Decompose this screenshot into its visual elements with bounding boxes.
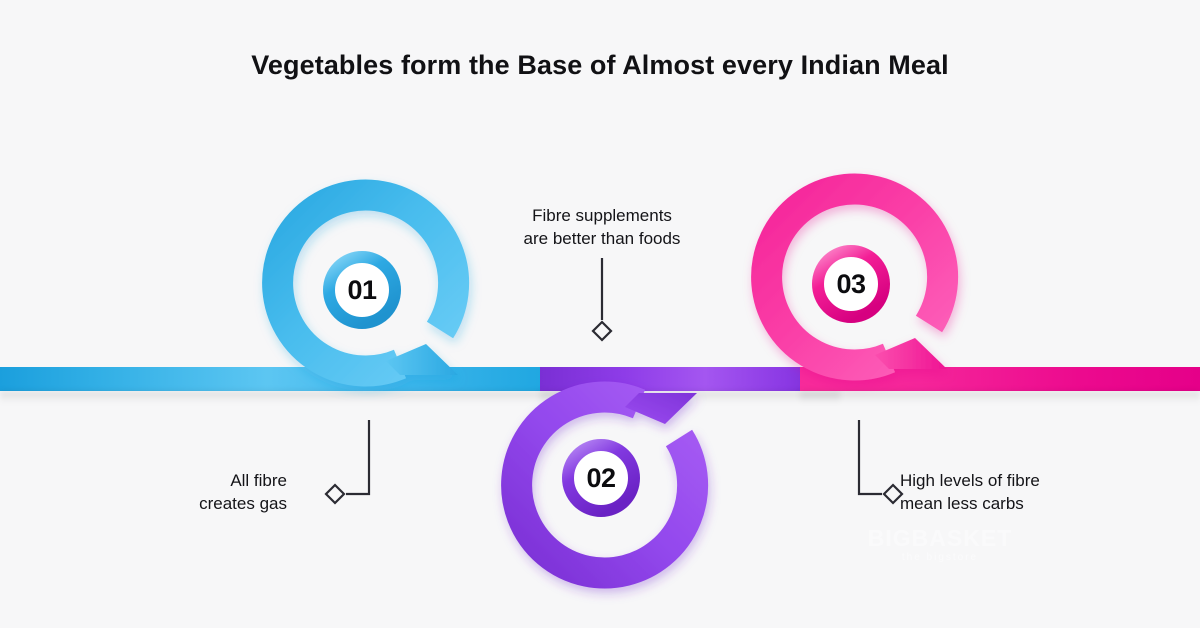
- callout-label-01: All fibre creates gas: [22, 470, 287, 515]
- spiral-graphic-03: [739, 172, 963, 396]
- callout-label-02: Fibre supplements are better than foods: [447, 205, 757, 250]
- diamond-icon: [326, 485, 344, 503]
- connector-line-left: [322, 420, 382, 515]
- watermark-subtext: the bigstore: [845, 552, 1035, 563]
- connector-line-top: [580, 258, 628, 348]
- page-title: Vegetables form the Base of Almost every…: [0, 50, 1200, 81]
- timeline-node-01[interactable]: 01: [250, 178, 474, 402]
- callout-label-03: High levels of fibre mean less carbs: [900, 470, 1185, 515]
- infographic-canvas: Vegetables form the Base of Almost every…: [0, 0, 1200, 628]
- connector-line-right: [846, 420, 906, 515]
- timeline-node-02[interactable]: 02: [489, 366, 713, 590]
- watermark-text: BIGBASKET: [868, 525, 1012, 551]
- spiral-graphic-01: [250, 178, 474, 402]
- diamond-icon: [593, 322, 611, 340]
- spiral-graphic-02: [489, 366, 713, 590]
- watermark: BIGBASKET the bigstore: [845, 525, 1035, 563]
- timeline-node-03[interactable]: 03: [739, 172, 963, 396]
